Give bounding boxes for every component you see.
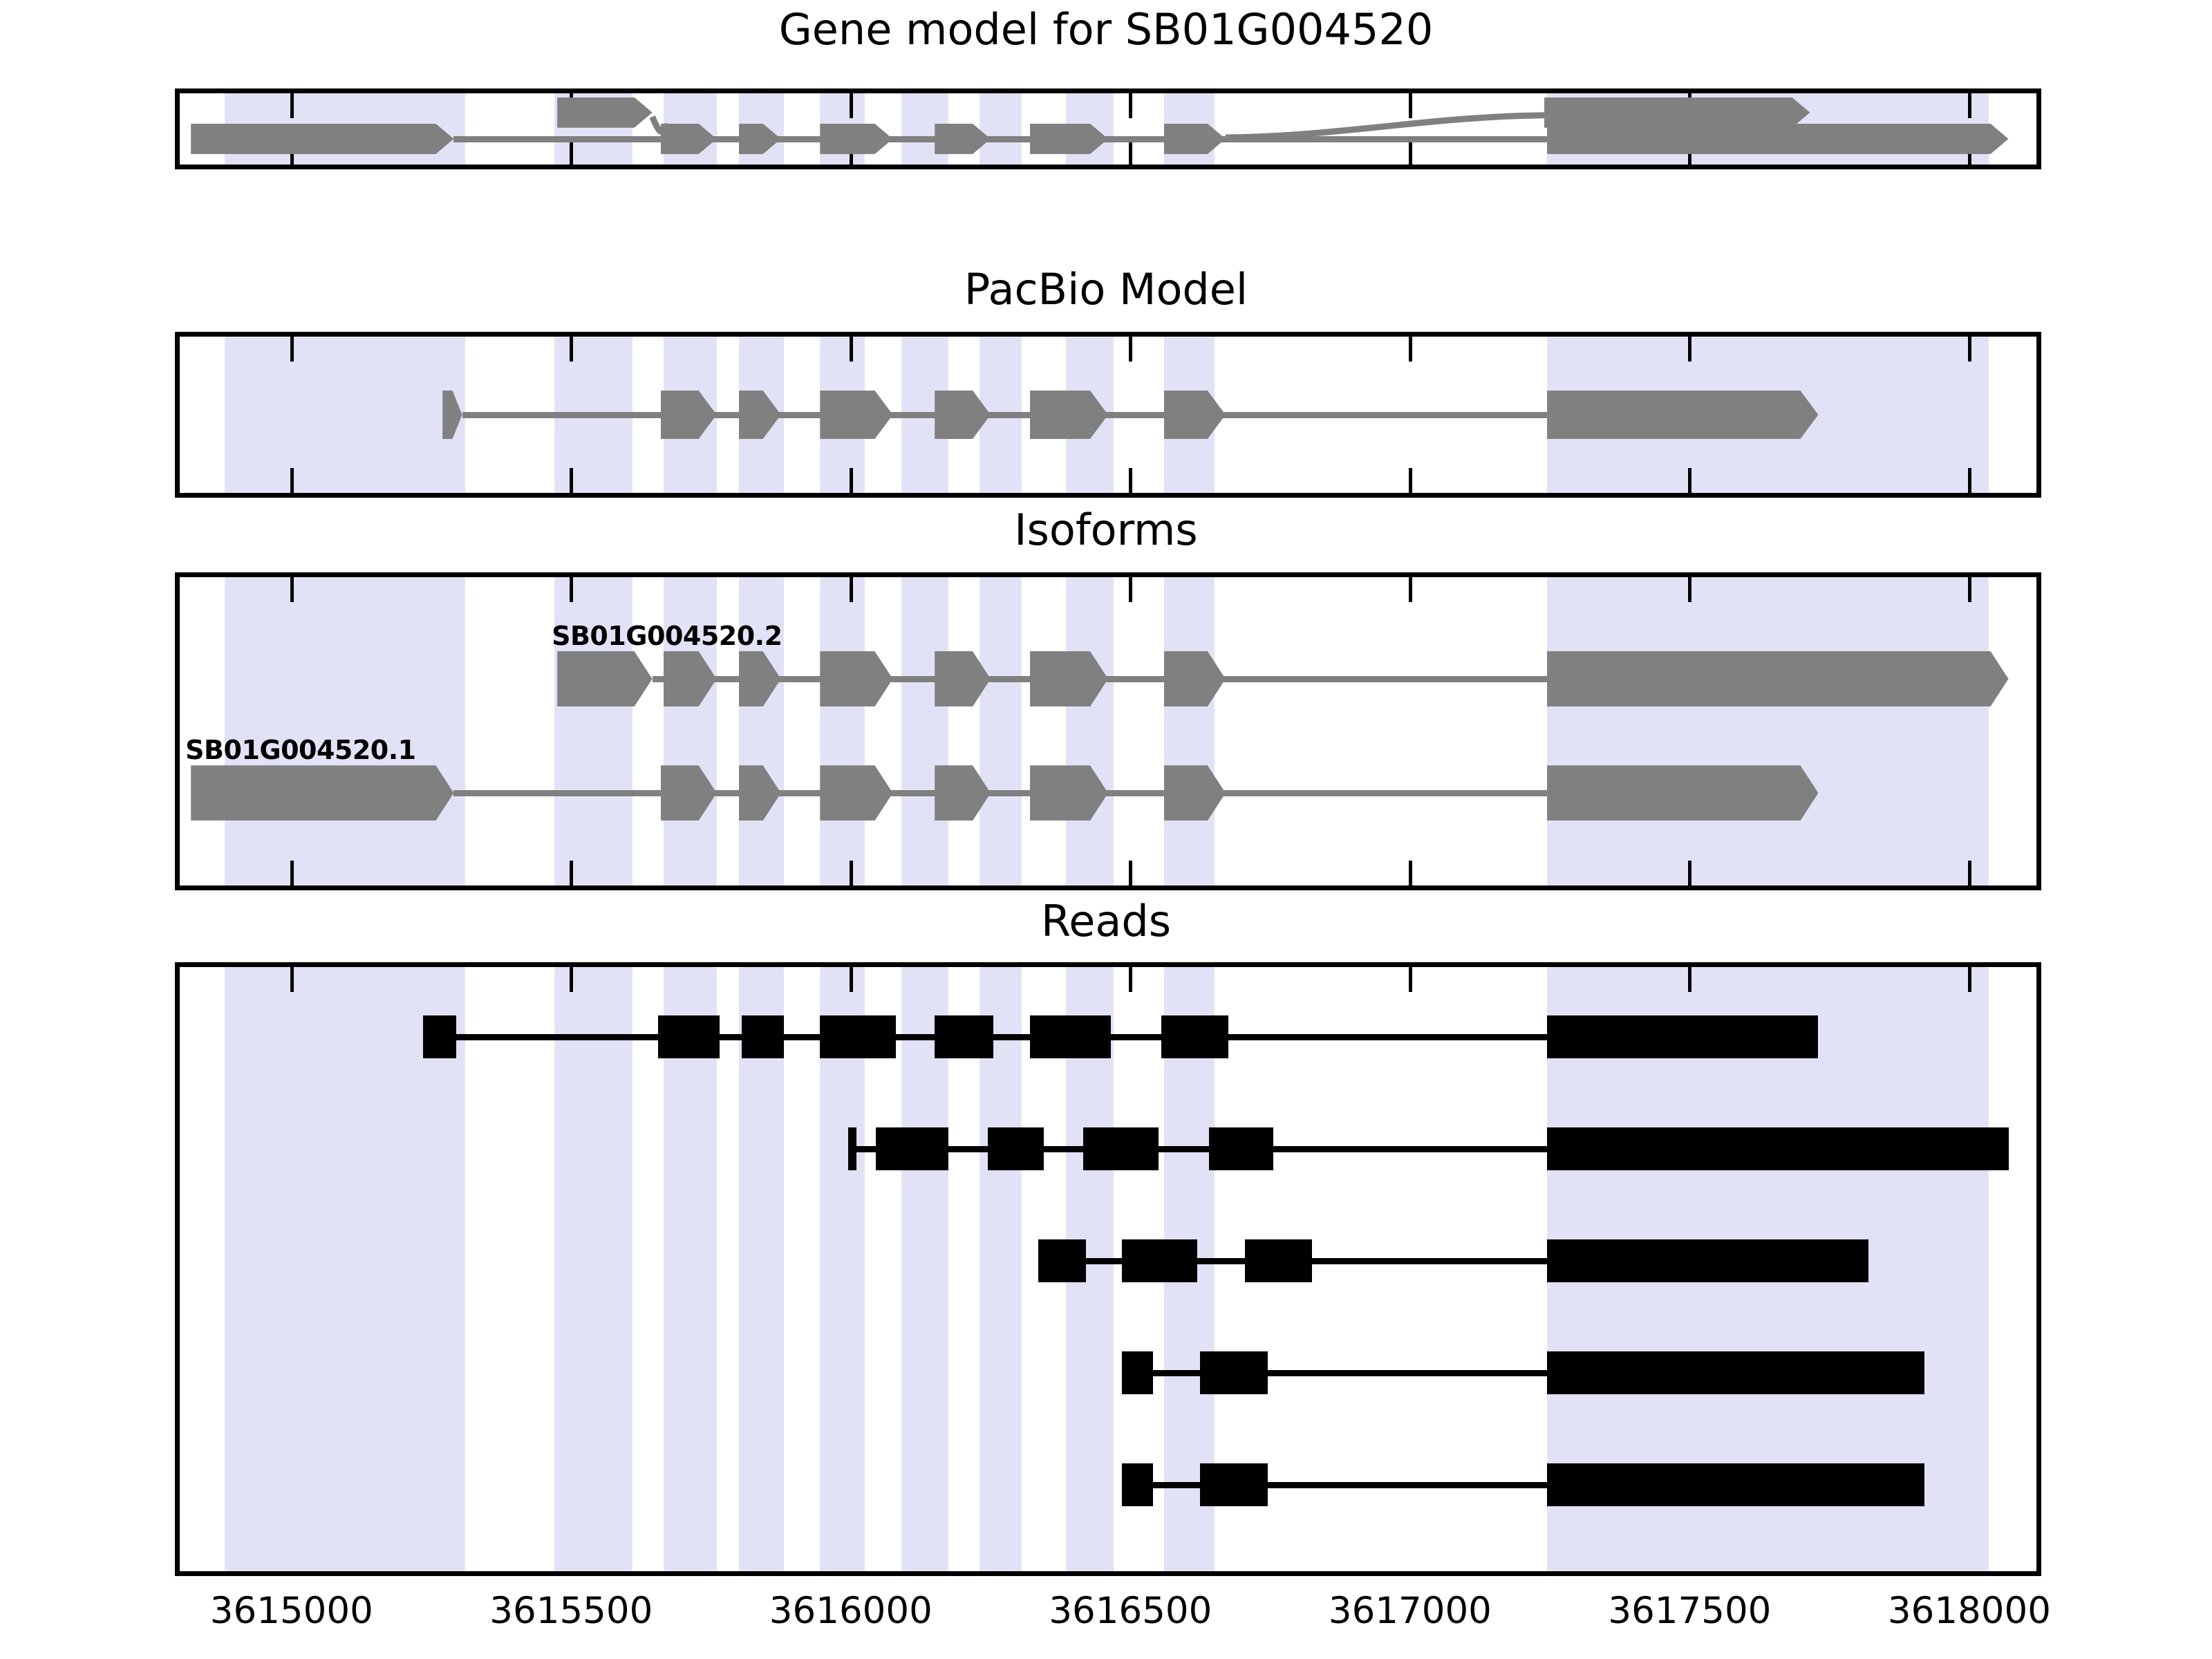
exon-arrow	[1547, 651, 2008, 706]
x-axis-tick	[570, 861, 573, 885]
intron-line	[462, 412, 1548, 418]
x-axis-tick	[290, 337, 294, 362]
x-axis-tick	[1688, 468, 1691, 493]
isoforms-panel: SB01G004520.2SB01G004520.1	[175, 572, 2041, 890]
x-axis-tick-label: 3615500	[447, 1590, 695, 1632]
exon-arrow	[1547, 765, 1818, 821]
intron-line	[453, 790, 1547, 796]
x-axis-tick	[1688, 577, 1691, 602]
x-axis-tick	[1968, 861, 1971, 885]
pacbio-model-panel	[175, 332, 2041, 498]
isoforms-panel-title: Isoforms	[0, 505, 2212, 555]
exon-arrow	[1164, 651, 1226, 706]
x-axis-tick	[1688, 337, 1691, 362]
x-axis-tick-label: 3618000	[1845, 1590, 2094, 1632]
x-axis-tick	[1409, 861, 1412, 885]
exon-arrow	[1547, 391, 1818, 439]
x-axis-tick	[1409, 577, 1412, 602]
reads-panel	[175, 962, 2041, 1576]
reads-panel-title: Reads	[0, 896, 2212, 946]
x-axis-tick	[1129, 468, 1132, 493]
x-axis-tick	[1409, 337, 1412, 362]
highlight-band	[980, 577, 1022, 885]
x-axis-tick	[290, 861, 294, 885]
x-axis-tick	[1968, 468, 1971, 493]
x-axis-tick	[290, 577, 294, 602]
exon-arrow	[1164, 765, 1226, 821]
x-axis-tick	[1129, 337, 1132, 362]
x-axis-tick	[1129, 861, 1132, 885]
exon-arrow	[820, 391, 892, 439]
x-axis-tick	[850, 577, 853, 602]
highlight-band	[1547, 577, 1989, 885]
highlight-band	[225, 577, 465, 885]
genome-browser-figure: Gene model for SB01G004520 PacBio Model …	[0, 0, 2212, 1659]
exon-arrow	[820, 765, 892, 821]
gene-model-panel	[175, 88, 2041, 169]
exon-arrow	[1164, 391, 1226, 439]
x-axis-tick-label: 3615000	[167, 1590, 416, 1632]
highlight-band	[225, 337, 465, 493]
read-exon-block	[1200, 1463, 1267, 1506]
x-axis-tick	[850, 337, 853, 362]
highlight-band	[901, 577, 949, 885]
isoform-label: SB01G004520.1	[185, 735, 415, 765]
x-axis-tick	[570, 577, 573, 602]
pacbio-model-panel-title: PacBio Model	[0, 264, 2212, 315]
read-row	[180, 967, 2036, 1571]
highlight-band	[1164, 577, 1215, 885]
x-axis-tick-label: 3617500	[1565, 1590, 1814, 1632]
read-exon-block	[1122, 1463, 1152, 1506]
exon-arrow	[820, 651, 892, 706]
highlight-band	[820, 577, 865, 885]
exon-arrow	[191, 765, 453, 821]
x-axis-tick	[1688, 861, 1691, 885]
x-axis-tick	[1409, 468, 1412, 493]
x-axis-tick	[1968, 577, 1971, 602]
x-axis-tick-label: 3616000	[727, 1590, 975, 1632]
x-axis-tick	[850, 861, 853, 885]
x-axis-tick	[290, 468, 294, 493]
exon-arrow	[1544, 97, 1810, 128]
exon-arrow	[557, 651, 653, 706]
x-axis-tick	[1968, 337, 1971, 362]
x-axis-tick-label: 3617000	[1286, 1590, 1535, 1632]
x-axis-tick	[1129, 577, 1132, 602]
highlight-band	[1066, 577, 1114, 885]
x-axis-tick-label: 3616500	[1006, 1590, 1255, 1632]
gene-model-panel-title: Gene model for SB01G004520	[0, 4, 2212, 55]
read-exon-block	[1547, 1463, 1924, 1506]
isoform-label: SB01G004520.2	[552, 621, 782, 651]
x-axis-tick	[850, 468, 853, 493]
x-axis-tick	[570, 337, 573, 362]
x-axis-tick	[570, 468, 573, 493]
